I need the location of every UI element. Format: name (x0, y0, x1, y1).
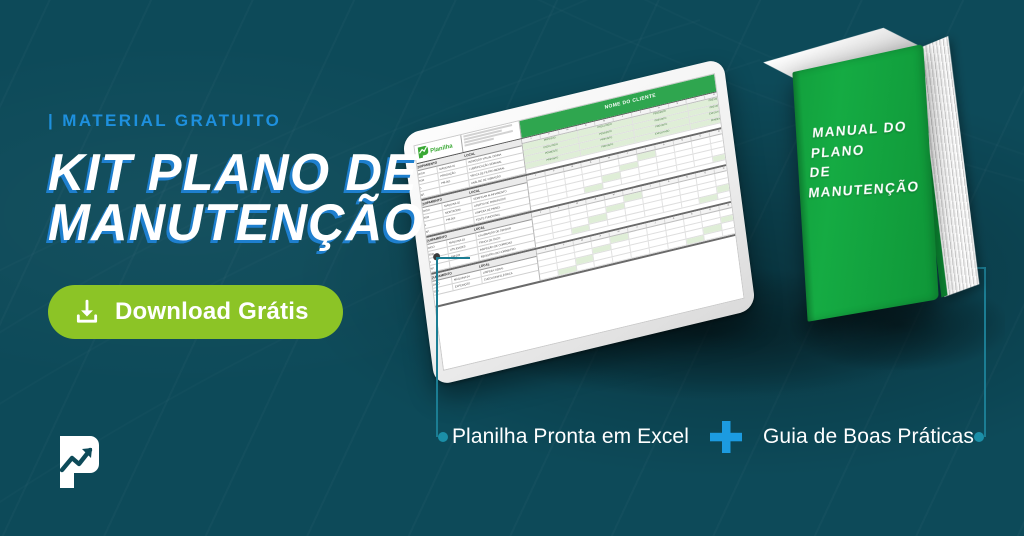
tablet-screen: Planilha NOME DO CLIENTE EQUIPAMENTOLOCA… (413, 73, 744, 371)
book-title: MANUAL DO PLANO DE MANUTENÇÃO (808, 115, 930, 203)
download-button[interactable]: Download Grátis (48, 285, 343, 339)
book-mockup[interactable]: MANUAL DO PLANO DE MANUTENÇÃO (800, 72, 1000, 362)
download-button-label: Download Grátis (115, 298, 309, 326)
book-title-line-2: DE MANUTENÇÃO (808, 155, 928, 203)
connector-dot-left (438, 432, 448, 442)
caption-left-text: Planilha Pronta em Excel (452, 425, 689, 449)
promo-banner: | MATERIAL GRATUITO KIT PLANO DE MANUTEN… (0, 0, 1024, 536)
eyebrow-label: | MATERIAL GRATUITO (48, 112, 448, 129)
download-icon (74, 299, 100, 325)
left-content-column: | MATERIAL GRATUITO KIT PLANO DE MANUTEN… (48, 112, 448, 339)
tablet-device[interactable]: Planilha NOME DO CLIENTE EQUIPAMENTOLOCA… (414, 96, 754, 371)
brand-logo-icon (48, 430, 106, 494)
headline-line-2: MANUTENÇÃO (48, 199, 436, 249)
caption-row: Planilha Pronta em Excel Guia de Boas Pr… (448, 418, 978, 456)
caption-right-text: Guia de Boas Práticas (763, 425, 974, 449)
spreadsheet: Planilha NOME DO CLIENTE EQUIPAMENTOLOCA… (413, 73, 744, 371)
plus-icon (709, 420, 743, 454)
page-title: KIT PLANO DE MANUTENÇÃO (48, 149, 436, 249)
